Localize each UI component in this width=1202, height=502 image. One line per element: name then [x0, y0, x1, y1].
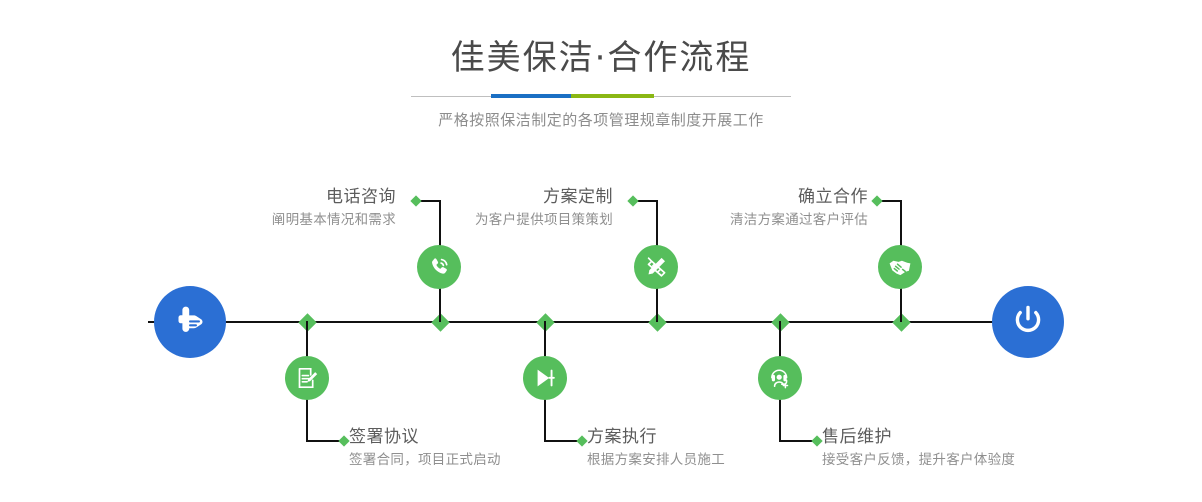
play-execute-icon: [532, 365, 558, 391]
step-desc-6: 接受客户反馈，提升客户体验度: [822, 451, 1015, 469]
step-title-6: 售后维护: [822, 427, 1015, 447]
step-label-2: 签署协议 签署合同，项目正式启动: [349, 427, 501, 469]
pen-ruler-icon: [643, 254, 669, 280]
headset-support-icon: [767, 365, 793, 391]
step-label-4: 方案执行 根据方案安排人员施工: [587, 427, 725, 469]
step-label-3: 方案定制 为客户提供项目策策划: [475, 187, 613, 229]
step-title-1: 电话咨询: [272, 187, 396, 207]
handshake-icon: [887, 254, 913, 280]
step-icon-2[interactable]: [285, 356, 329, 400]
connector-lead-6: [779, 440, 815, 442]
connector-tip-1: [410, 195, 421, 206]
timeline-end-endpoint[interactable]: [992, 286, 1064, 358]
step-desc-5: 清洁方案通过客户评估: [730, 211, 868, 229]
connector-lead-2: [306, 440, 342, 442]
step-label-1: 电话咨询 阐明基本情况和需求: [272, 187, 396, 229]
step-desc-3: 为客户提供项目策策划: [475, 211, 613, 229]
phone-call-icon: [426, 254, 452, 280]
step-title-5: 确立合作: [730, 187, 868, 207]
connector-tip-4: [576, 435, 587, 446]
connector-tip-3: [627, 195, 638, 206]
title-divider: [411, 92, 791, 100]
connector-tip-5: [871, 195, 882, 206]
divider-segment-green: [571, 94, 654, 98]
step-title-4: 方案执行: [587, 427, 725, 447]
step-label-6: 售后维护 接受客户反馈，提升客户体验度: [822, 427, 1015, 469]
step-label-5: 确立合作 清洁方案通过客户评估: [730, 187, 868, 229]
step-desc-1: 阐明基本情况和需求: [272, 211, 396, 229]
connector-lead-4: [544, 440, 580, 442]
step-title-3: 方案定制: [475, 187, 613, 207]
connector-tip-2: [338, 435, 349, 446]
step-icon-5[interactable]: [878, 245, 922, 289]
page-subtitle: 严格按照保洁制定的各项管理规章制度开展工作: [0, 110, 1202, 130]
timeline-axis: [148, 321, 1054, 323]
step-icon-1[interactable]: [417, 245, 461, 289]
power-icon: [1008, 300, 1048, 345]
step-desc-2: 签署合同，项目正式启动: [349, 451, 501, 469]
pointing-hand-icon: [170, 300, 210, 345]
divider-segment-blue: [491, 94, 571, 98]
connector-tip-6: [811, 435, 822, 446]
page-title: 佳美保洁·合作流程: [0, 0, 1202, 78]
step-title-2: 签署协议: [349, 427, 501, 447]
page-header: 佳美保洁·合作流程 严格按照保洁制定的各项管理规章制度开展工作: [0, 0, 1202, 130]
document-pen-icon: [294, 365, 320, 391]
step-desc-4: 根据方案安排人员施工: [587, 451, 725, 469]
step-icon-6[interactable]: [758, 356, 802, 400]
flow-diagram-page: 佳美保洁·合作流程 严格按照保洁制定的各项管理规章制度开展工作: [0, 0, 1202, 502]
step-icon-4[interactable]: [523, 356, 567, 400]
step-icon-3[interactable]: [634, 245, 678, 289]
timeline-start-endpoint[interactable]: [154, 286, 226, 358]
